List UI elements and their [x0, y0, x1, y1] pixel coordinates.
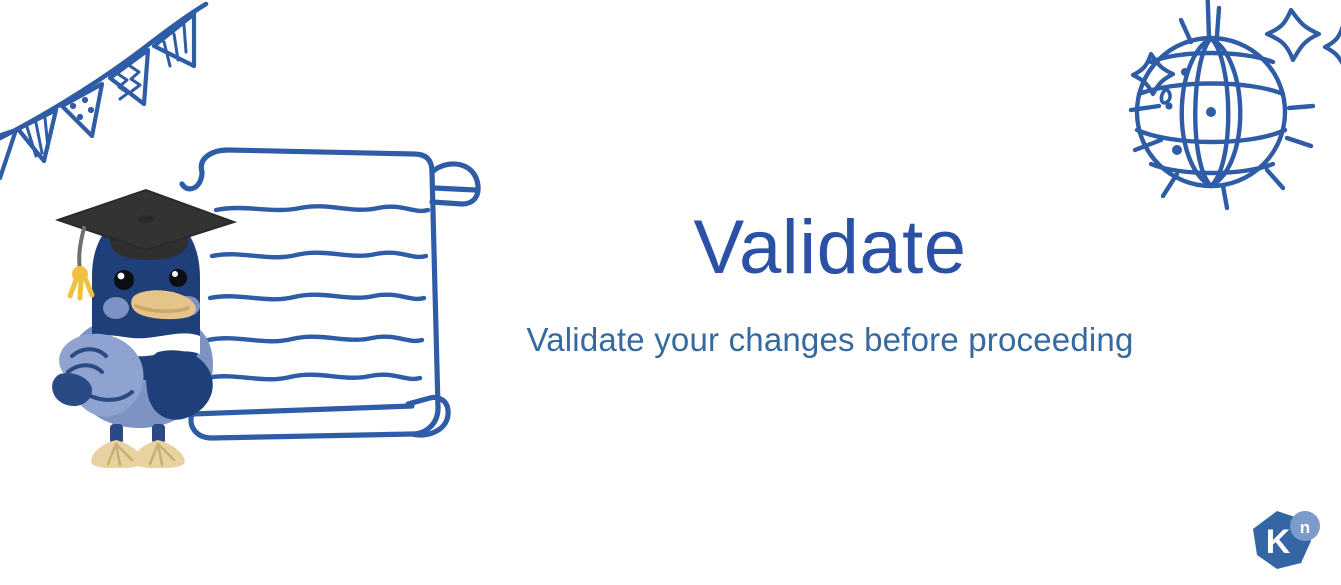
- logo-secondary-letter: n: [1300, 518, 1310, 537]
- slide-canvas: Validate Validate your changes before pr…: [0, 0, 1341, 585]
- hero-text-block: Validate Validate your changes before pr…: [470, 208, 1190, 359]
- hero-illustration: [48, 138, 468, 468]
- logo-primary-letter: K: [1266, 523, 1291, 561]
- graduate-bird-mascot-icon: [48, 188, 238, 468]
- disco-ball-icon: [1115, 0, 1341, 230]
- page-title: Validate: [470, 208, 1190, 288]
- page-subtitle: Validate your changes before proceeding: [470, 320, 1190, 360]
- brand-logo: K n: [1247, 507, 1323, 577]
